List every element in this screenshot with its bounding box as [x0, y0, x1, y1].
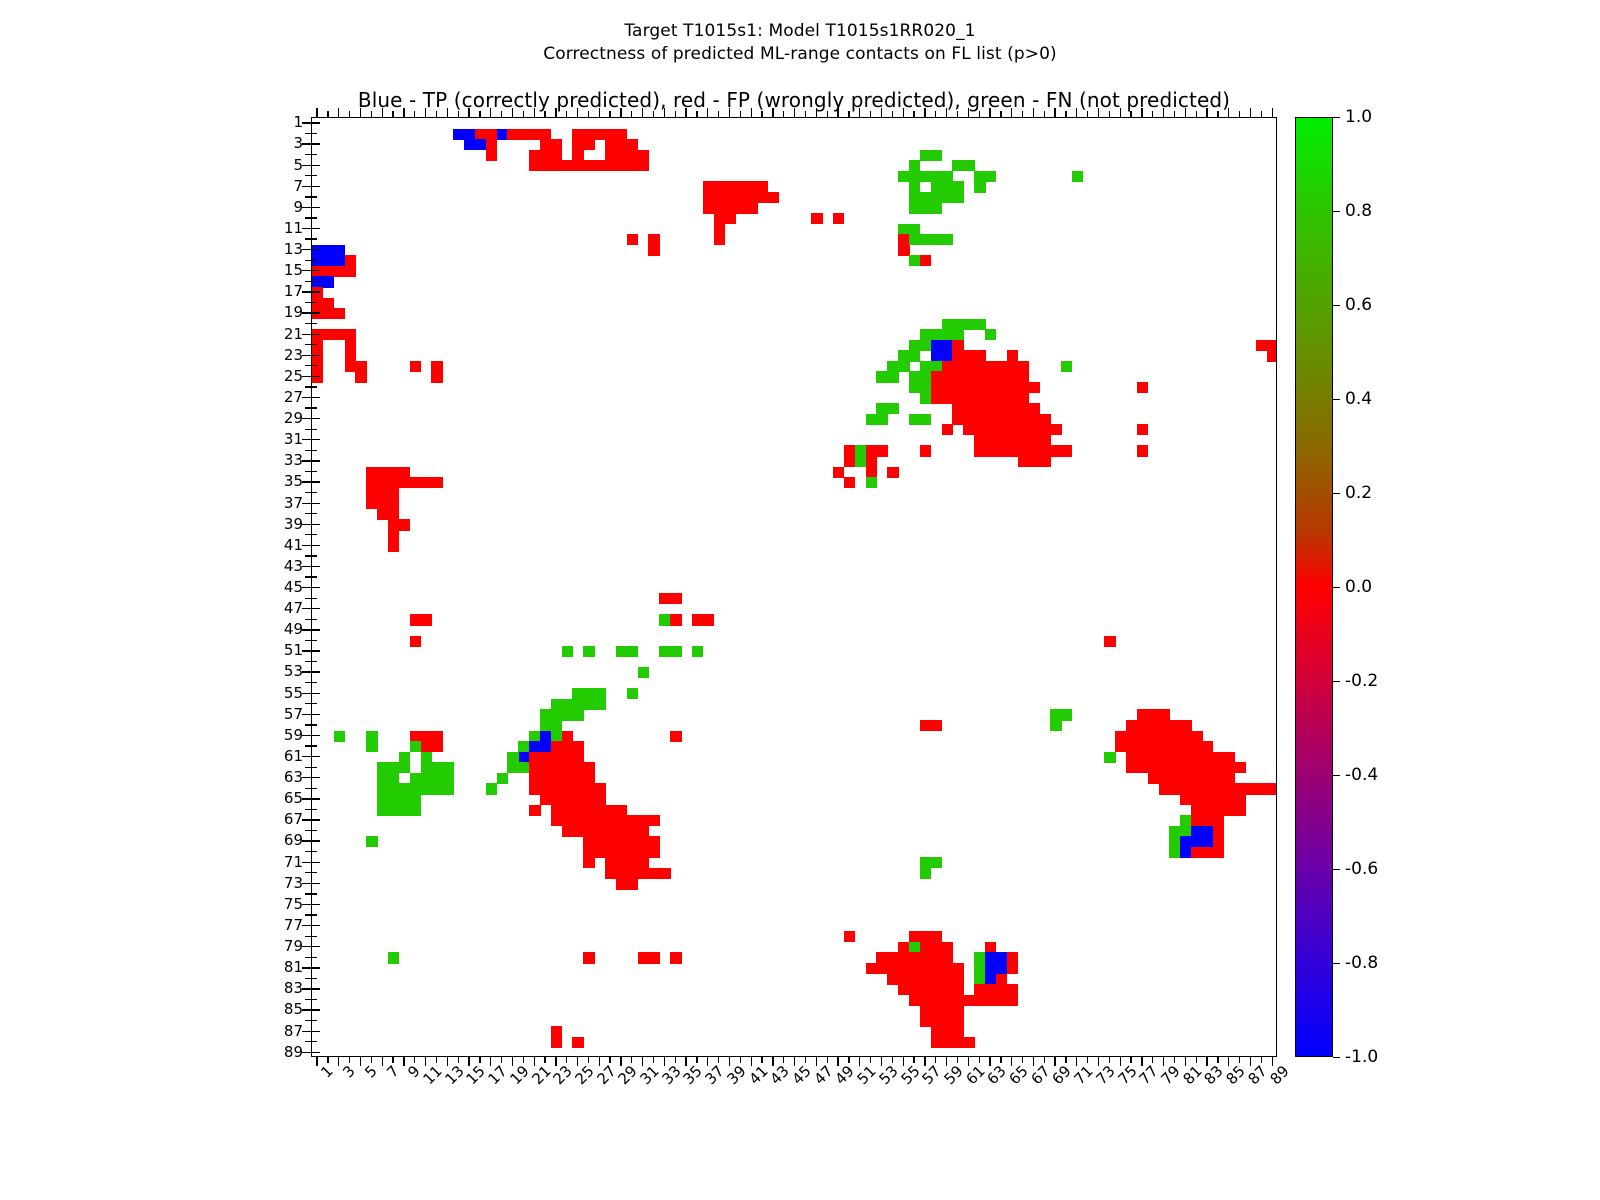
contact-cell-fp — [627, 847, 638, 858]
contact-cell-fp — [529, 752, 540, 763]
colorbar-tick — [1333, 399, 1340, 400]
contact-cell-fn — [431, 783, 442, 794]
contact-cell-fn — [692, 646, 703, 657]
contact-cell-fp — [366, 477, 377, 488]
contact-cell-fn — [399, 805, 410, 816]
contact-cell-fp — [963, 403, 974, 414]
contact-cell-fn — [507, 752, 518, 763]
contact-cell-fp — [312, 361, 323, 372]
contact-cell-fp — [1213, 815, 1224, 826]
contact-cell-fp — [1267, 340, 1276, 351]
contact-cell-fp — [1224, 783, 1235, 794]
y-axis-tick — [302, 819, 311, 820]
y-axis-tick — [302, 756, 311, 757]
figure-title-block: Target T1015s1: Model T1015s1RR020_1 Cor… — [0, 20, 1600, 66]
contact-cell-fp — [714, 192, 725, 203]
contact-cell-fn — [551, 699, 562, 710]
contact-cell-fp — [605, 826, 616, 837]
contact-cell-fp — [1050, 424, 1061, 435]
y-tick-label: 43 — [284, 557, 303, 575]
contact-cell-fn — [421, 762, 432, 773]
contact-cell-fn — [909, 160, 920, 171]
contact-cell-fp — [1039, 424, 1050, 435]
contact-cell-fp — [1213, 752, 1224, 763]
y-tick-label: 19 — [284, 303, 303, 321]
y-tick-label: 61 — [284, 747, 303, 765]
contact-cell-fp — [931, 963, 942, 974]
contact-cell-fp — [909, 931, 920, 942]
y-tick-label: 83 — [284, 979, 303, 997]
contact-cell-fp — [562, 826, 573, 837]
colorbar-tick — [1333, 869, 1340, 870]
contact-cell-fp — [540, 139, 551, 150]
contact-cell-fp — [377, 467, 388, 478]
contact-cell-fp — [985, 403, 996, 414]
colorbar-tick — [1333, 963, 1340, 964]
contact-cell-fp — [952, 371, 963, 382]
contact-cell-fp — [431, 477, 442, 488]
contact-cell-fp — [572, 805, 583, 816]
contact-cell-fp — [931, 931, 942, 942]
contact-cell-fp — [572, 1037, 583, 1048]
contact-cell-fn — [1104, 752, 1115, 763]
y-axis-tick — [302, 1031, 311, 1032]
y-tick-label: 57 — [284, 705, 303, 723]
y-tick-label: 69 — [284, 831, 303, 849]
contact-cell-fn — [898, 171, 909, 182]
contact-cell-fp — [627, 826, 638, 837]
contact-cell-fn — [898, 224, 909, 235]
contact-cell-fp — [551, 794, 562, 805]
contact-cell-fn — [909, 181, 920, 192]
contact-cell-fp — [1180, 762, 1191, 773]
contact-cell-fp — [1202, 773, 1213, 784]
y-axis-tick — [302, 587, 311, 588]
contact-cell-fn — [627, 688, 638, 699]
contact-cell-fp — [996, 371, 1007, 382]
contact-cell-fn — [974, 171, 985, 182]
contact-cell-fp — [974, 371, 985, 382]
contact-cell-fp — [638, 857, 649, 868]
contact-cell-fp — [1039, 435, 1050, 446]
contact-cell-fp — [931, 995, 942, 1006]
contact-cell-fp — [594, 836, 605, 847]
contact-cell-fp — [616, 857, 627, 868]
contact-cell-fn — [1169, 836, 1180, 847]
y-tick-label: 51 — [284, 641, 303, 659]
y-tick-label: 27 — [284, 388, 303, 406]
contact-cell-fp — [1213, 836, 1224, 847]
contact-cell-fp — [659, 593, 670, 604]
contact-cell-tp — [942, 340, 953, 351]
contact-cell-fp — [1213, 773, 1224, 784]
contact-cell-fp — [996, 382, 1007, 393]
contact-cell-fp — [942, 371, 953, 382]
y-tick-label: 45 — [284, 578, 303, 596]
colorbar-tick-label: 0.0 — [1345, 577, 1372, 597]
contact-cell-fp — [952, 963, 963, 974]
contact-cell-fn — [1072, 171, 1083, 182]
contact-cell-fp — [605, 847, 616, 858]
contact-cell-fp — [627, 868, 638, 879]
y-tick-label: 77 — [284, 916, 303, 934]
contact-cell-fp — [670, 593, 681, 604]
y-axis-tick — [302, 207, 311, 208]
contact-cell-fp — [583, 815, 594, 826]
contact-cell-fp — [1126, 762, 1137, 773]
contact-cell-fp — [486, 129, 497, 140]
colorbar-tick-label: -1.0 — [1345, 1047, 1378, 1067]
contact-cell-fn — [887, 361, 898, 372]
contact-cell-fp — [670, 614, 681, 625]
contact-cell-fp — [703, 181, 714, 192]
contact-cell-fn — [594, 688, 605, 699]
colorbar: 1.00.80.60.40.20.0-0.2-0.4-0.6-0.8-1.0 — [1295, 117, 1333, 1057]
y-axis-tick-labels: 1357911131517192123252729313335373941434… — [255, 117, 303, 1057]
contact-cell-fp — [1007, 435, 1018, 446]
contact-cell-fp — [1148, 741, 1159, 752]
y-tick-label: 25 — [284, 367, 303, 385]
contact-cell-fp — [1148, 720, 1159, 731]
y-tick-label: 39 — [284, 515, 303, 533]
contact-cell-tp — [323, 276, 334, 287]
contact-cell-fp — [931, 974, 942, 985]
contact-cell-fn — [388, 805, 399, 816]
contact-cell-fn — [909, 382, 920, 393]
contact-cell-fp — [562, 752, 573, 763]
contact-cell-fp — [931, 393, 942, 404]
y-axis-tick — [302, 312, 311, 313]
contact-cell-fp — [920, 995, 931, 1006]
y-tick-label: 35 — [284, 472, 303, 490]
contact-cell-fp — [1137, 752, 1148, 763]
contact-cell-fp — [974, 361, 985, 372]
contact-cell-fp — [898, 952, 909, 963]
contact-cell-fn — [1180, 815, 1191, 826]
contact-cell-fp — [1235, 794, 1246, 805]
contact-cell-fp — [1137, 731, 1148, 742]
contact-cell-fp — [898, 984, 909, 995]
y-axis-tick — [302, 122, 311, 123]
contact-cell-fn — [952, 181, 963, 192]
contact-cell-fn — [931, 234, 942, 245]
contact-cell-fp — [974, 414, 985, 425]
contact-cell-fp — [898, 963, 909, 974]
contact-cell-fn — [659, 614, 670, 625]
contact-cell-fp — [648, 868, 659, 879]
contact-cell-fp — [518, 129, 529, 140]
contact-cell-fp — [1007, 350, 1018, 361]
y-tick-label: 53 — [284, 662, 303, 680]
contact-cell-fp — [1159, 752, 1170, 763]
contact-cell-fp — [898, 942, 909, 953]
contact-cell-fp — [942, 995, 953, 1006]
contact-cell-tp — [453, 129, 464, 140]
contact-cell-fn — [421, 783, 432, 794]
contact-cell-fp — [1202, 741, 1213, 752]
contact-cell-fn — [410, 794, 421, 805]
contact-cell-fp — [898, 234, 909, 245]
contact-cell-fp — [963, 382, 974, 393]
contact-cell-fp — [942, 382, 953, 393]
contact-cell-fp — [1213, 805, 1224, 816]
contact-cell-fp — [562, 731, 573, 742]
contact-cell-fp — [1028, 403, 1039, 414]
contact-cell-fp — [312, 266, 323, 277]
contact-cell-fp — [920, 445, 931, 456]
contact-cell-fn — [942, 192, 953, 203]
y-tick-label: 87 — [284, 1022, 303, 1040]
y-tick-label: 65 — [284, 789, 303, 807]
y-axis-tick — [302, 714, 311, 715]
contact-cell-fp — [355, 371, 366, 382]
contact-cell-fn — [670, 646, 681, 657]
contact-cell-fp — [583, 847, 594, 858]
contact-cell-fp — [616, 139, 627, 150]
contact-cell-fp — [551, 160, 562, 171]
contact-cell-tp — [1202, 836, 1213, 847]
contact-cell-fp — [366, 488, 377, 499]
contact-cell-fp — [627, 150, 638, 161]
contact-cell-fp — [1148, 731, 1159, 742]
contact-cell-fp — [583, 836, 594, 847]
y-tick-label: 21 — [284, 325, 303, 343]
contact-cell-fn — [551, 720, 562, 731]
contact-map-cell-layer — [312, 118, 1276, 1056]
y-axis-tick — [302, 291, 311, 292]
contact-cell-fp — [1191, 741, 1202, 752]
contact-cell-fp — [887, 974, 898, 985]
contact-cell-fp — [312, 287, 323, 298]
colorbar-tick-label: -0.4 — [1345, 765, 1378, 785]
contact-cell-fp — [616, 847, 627, 858]
contact-cell-fp — [985, 393, 996, 404]
y-tick-label: 41 — [284, 536, 303, 554]
x-tick-label: 89 — [1266, 1062, 1292, 1088]
contact-cell-fp — [1028, 424, 1039, 435]
contact-cell-fp — [421, 741, 432, 752]
contact-cell-fp — [703, 614, 714, 625]
contact-cell-fp — [1159, 731, 1170, 742]
y-axis-tick — [302, 439, 311, 440]
contact-cell-fp — [648, 847, 659, 858]
contact-cell-fn — [855, 445, 866, 456]
contact-cell-fp — [942, 942, 953, 953]
contact-cell-fn — [876, 414, 887, 425]
y-tick-label: 47 — [284, 599, 303, 617]
contact-cell-fp — [572, 139, 583, 150]
contact-cell-fp — [562, 741, 573, 752]
y-tick-label: 7 — [293, 177, 303, 195]
contact-cell-fp — [583, 160, 594, 171]
contact-cell-fp — [703, 192, 714, 203]
contact-cell-fp — [952, 340, 963, 351]
contact-cell-fp — [572, 741, 583, 752]
contact-cell-fp — [811, 213, 822, 224]
contact-cell-tp — [985, 952, 996, 963]
contact-cell-fp — [1169, 731, 1180, 742]
contact-cell-fp — [670, 731, 681, 742]
contact-cell-fp — [1007, 963, 1018, 974]
contact-cell-fp — [1224, 794, 1235, 805]
contact-cell-fp — [583, 826, 594, 837]
y-axis-tick — [302, 355, 311, 356]
contact-cell-fn — [497, 773, 508, 784]
y-tick-label: 23 — [284, 346, 303, 364]
contact-cell-fp — [410, 614, 421, 625]
contact-cell-fp — [996, 424, 1007, 435]
figure-suptitle-line1: Target T1015s1: Model T1015s1RR020_1 — [0, 20, 1600, 43]
y-tick-label: 13 — [284, 240, 303, 258]
contact-cell-fp — [1039, 445, 1050, 456]
colorbar-tick — [1333, 587, 1340, 588]
contact-cell-fp — [431, 741, 442, 752]
contact-cell-fn — [952, 192, 963, 203]
contact-cell-fp — [572, 794, 583, 805]
contact-cell-fp — [942, 952, 953, 963]
contact-cell-fp — [1039, 456, 1050, 467]
contact-cell-fp — [659, 868, 670, 879]
contact-cell-fp — [312, 308, 323, 319]
contact-cell-fp — [1137, 382, 1148, 393]
x-tick-label: 3 — [339, 1062, 358, 1081]
contact-cell-fp — [974, 393, 985, 404]
contact-cell-fn — [931, 202, 942, 213]
contact-cell-fp — [1126, 741, 1137, 752]
contact-cell-fp — [616, 129, 627, 140]
contact-cell-fp — [1169, 752, 1180, 763]
contact-cell-fp — [638, 815, 649, 826]
contact-cell-fn — [909, 255, 920, 266]
contact-cell-fp — [594, 815, 605, 826]
contact-cell-fp — [562, 160, 573, 171]
contact-cell-fn — [421, 773, 432, 784]
contact-cell-fn — [876, 371, 887, 382]
contact-cell-fp — [952, 414, 963, 425]
y-axis-tick — [302, 460, 311, 461]
contact-cell-fp — [529, 783, 540, 794]
y-axis-tick — [302, 671, 311, 672]
contact-cell-fp — [876, 963, 887, 974]
contact-cell-fp — [931, 1037, 942, 1048]
contact-cell-fp — [1159, 762, 1170, 773]
contact-cell-fn — [920, 382, 931, 393]
contact-cell-fp — [1245, 783, 1256, 794]
contact-cell-fp — [486, 150, 497, 161]
y-tick-label: 71 — [284, 853, 303, 871]
y-tick-label: 11 — [284, 219, 303, 237]
contact-cell-fp — [844, 445, 855, 456]
contact-cell-fn — [410, 805, 421, 816]
contact-cell-fn — [931, 857, 942, 868]
contact-cell-fp — [985, 382, 996, 393]
contact-cell-fp — [974, 350, 985, 361]
contact-cell-fp — [345, 361, 356, 372]
contact-cell-fp — [920, 984, 931, 995]
contact-cell-fp — [594, 794, 605, 805]
contact-cell-fp — [551, 139, 562, 150]
contact-cell-fp — [1148, 752, 1159, 763]
contact-cell-fp — [648, 952, 659, 963]
contact-cell-fp — [1018, 382, 1029, 393]
contact-cell-fp — [1202, 752, 1213, 763]
contact-cell-fp — [1213, 826, 1224, 837]
contact-cell-fp — [942, 963, 953, 974]
contact-cell-fp — [1235, 762, 1246, 773]
contact-cell-fn — [920, 202, 931, 213]
contact-cell-fp — [1137, 445, 1148, 456]
contact-cell-fp — [952, 974, 963, 985]
contact-cell-fp — [529, 805, 540, 816]
contact-cell-fp — [931, 984, 942, 995]
contact-cell-fn — [388, 762, 399, 773]
contact-cell-fp — [952, 350, 963, 361]
contact-cell-fp — [529, 150, 540, 161]
contact-cell-fn — [1061, 709, 1072, 720]
figure-suptitle-line2: Correctness of predicted ML-range contac… — [0, 43, 1600, 66]
contact-cell-fp — [931, 382, 942, 393]
contact-cell-fp — [605, 805, 616, 816]
contact-cell-fp — [1007, 361, 1018, 372]
y-axis-tick — [302, 946, 311, 947]
contact-cell-fp — [1137, 424, 1148, 435]
contact-cell-fp — [898, 245, 909, 256]
contact-cell-fp — [714, 224, 725, 235]
y-axis-tick — [302, 228, 311, 229]
contact-cell-fp — [594, 805, 605, 816]
contact-cell-fn — [540, 720, 551, 731]
contact-cell-fn — [920, 393, 931, 404]
contact-cell-fp — [714, 181, 725, 192]
contact-cell-fp — [627, 815, 638, 826]
contact-cell-fn — [421, 752, 432, 763]
contact-cell-fn — [388, 773, 399, 784]
contact-cell-fp — [724, 213, 735, 224]
contact-cell-fp — [909, 995, 920, 1006]
contact-cell-fp — [594, 160, 605, 171]
y-tick-label: 33 — [284, 451, 303, 469]
contact-cell-fp — [529, 129, 540, 140]
contact-cell-tp — [497, 129, 508, 140]
contact-cell-fp — [920, 952, 931, 963]
colorbar-tick — [1333, 305, 1340, 306]
contact-cell-fp — [572, 826, 583, 837]
y-tick-label: 37 — [284, 494, 303, 512]
contact-cell-fp — [920, 931, 931, 942]
contact-cell-fp — [876, 952, 887, 963]
contact-cell-fp — [572, 752, 583, 763]
contact-cell-fp — [1039, 414, 1050, 425]
contact-cell-fp — [323, 329, 334, 340]
contact-cell-fp — [909, 974, 920, 985]
contact-cell-fp — [974, 403, 985, 414]
contact-cell-fp — [638, 150, 649, 161]
contact-cell-tp — [312, 245, 323, 256]
contact-cell-tp — [996, 963, 1007, 974]
contact-cell-fp — [952, 361, 963, 372]
contact-cell-fp — [540, 773, 551, 784]
contact-cell-fn — [562, 699, 573, 710]
contact-cell-fp — [594, 826, 605, 837]
y-axis-tick — [302, 566, 311, 567]
contact-cell-fp — [1104, 636, 1115, 647]
contact-cell-fn — [616, 646, 627, 657]
contact-cell-fn — [963, 160, 974, 171]
contact-cell-fp — [1169, 741, 1180, 752]
contact-cell-fp — [931, 952, 942, 963]
contact-cell-fp — [377, 488, 388, 499]
contact-cell-fp — [887, 467, 898, 478]
